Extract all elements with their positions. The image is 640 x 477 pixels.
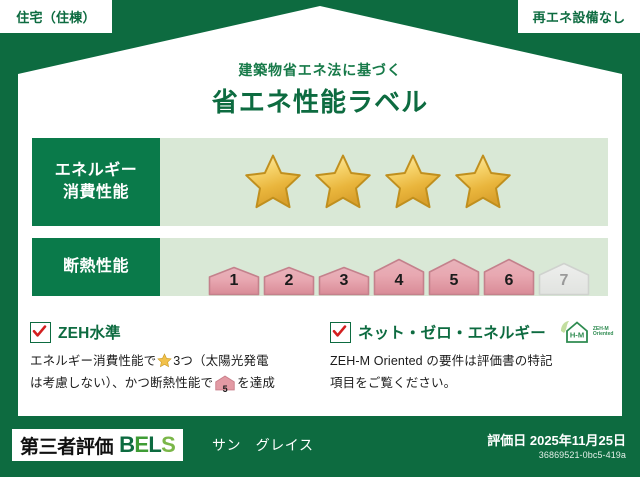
star-icon [312, 152, 374, 212]
insulation-level-4: 4 [373, 258, 425, 296]
house-icon [263, 266, 315, 296]
net-zero-energy-body-line2: 項目をご覧ください。 [330, 376, 456, 390]
insulation-level-2: 2 [263, 266, 315, 296]
check-icon [32, 324, 47, 339]
insulation-level-3: 3 [318, 266, 370, 296]
net-zero-energy-checkbox[interactable] [330, 322, 351, 343]
insulation-level-6: 6 [483, 258, 535, 296]
building-name: サン グレイス [212, 435, 314, 455]
zeh-standard-body-stars: 3つ（太陽光発電 [173, 354, 268, 368]
zeh-standard-heading: ZEH水準 [30, 320, 302, 344]
house-icon [208, 266, 260, 296]
evaluation-date: 評価日 2025年11月25日 [487, 430, 626, 449]
zeh-standard-title: ZEH水準 [58, 321, 121, 343]
house-icon [538, 262, 590, 296]
star-rating [160, 152, 514, 212]
third-party-evaluation-label: 第三者評価 [20, 432, 113, 459]
bels-letter-b: B [119, 432, 134, 457]
star-icon [452, 152, 514, 212]
insulation-house-scale: 1234567 [160, 238, 590, 296]
bels-badge: 第三者評価 BELS [12, 429, 183, 461]
bels-letter-l: L [148, 432, 161, 457]
house-icon [373, 258, 425, 296]
star-icon-inline [157, 353, 172, 368]
energy-performance-label-line1: エネルギー [55, 160, 137, 182]
energy-label-root: 住宅（住棟） 再エネ設備なし 建築物省エネ法に基づく 省エネ性能ラベル エネルギ… [0, 0, 640, 477]
house-icon [428, 258, 480, 296]
evaluation-id: 36869521-0bc5-419a [539, 450, 626, 460]
label-title: 省エネ性能ラベル [0, 82, 640, 119]
insulation-performance-row: 断熱性能 1234567 [32, 238, 608, 296]
insulation-badge-inline: 5 [215, 375, 235, 399]
renewable-equipment-tag-label: 再エネ設備なし [533, 7, 626, 26]
insulation-badge-inline-number: 5 [215, 382, 235, 397]
energy-performance-label-line2: 消費性能 [63, 182, 129, 204]
renewable-equipment-tag: 再エネ設備なし [518, 0, 640, 33]
insulation-performance-value: 1234567 [160, 238, 608, 296]
zeh-standard-note: ZEH水準 エネルギー消費性能で3つ（太陽光発電 は考慮しない）、かつ断熱性能で… [30, 320, 302, 398]
svg-text:H-M: H-M [570, 330, 584, 339]
zeh-standard-body-part2: は考慮しない）、かつ断熱性能で [30, 376, 213, 390]
zeh-standard-body: エネルギー消費性能で3つ（太陽光発電 は考慮しない）、かつ断熱性能で5を達成 [30, 351, 302, 398]
zeh-m-logo-caption-line2: Oriented [593, 332, 614, 337]
bels-letter-s: S [161, 432, 175, 457]
label-subtitle: 建築物省エネ法に基づく [0, 60, 640, 80]
energy-performance-value [160, 138, 608, 226]
insulation-level-5: 5 [428, 258, 480, 296]
building-type-tag-label: 住宅（住棟） [16, 7, 96, 26]
net-zero-energy-note: ネット・ゼロ・エネルギー H-M ZEH-M Oriented ZEH-M Or… [330, 320, 602, 394]
insulation-level-7: 7 [538, 262, 590, 296]
net-zero-energy-body-line1: ZEH-M Oriented の要件は評価書の特記 [330, 354, 553, 368]
star-icon [382, 152, 444, 212]
zeh-standard-body-part3: を達成 [237, 376, 275, 390]
check-icon [332, 324, 347, 339]
bels-letter-e: E [134, 432, 148, 457]
net-zero-energy-body: ZEH-M Oriented の要件は評価書の特記 項目をご覧ください。 [330, 351, 602, 394]
zeh-m-oriented-logo: H-M ZEH-M Oriented [558, 319, 614, 345]
net-zero-energy-heading: ネット・ゼロ・エネルギー H-M ZEH-M Oriented [330, 320, 602, 344]
star-icon [242, 152, 304, 212]
insulation-performance-label-text: 断熱性能 [63, 256, 129, 278]
energy-performance-label: エネルギー 消費性能 [32, 138, 160, 226]
insulation-level-1: 1 [208, 266, 260, 296]
label-footer: 第三者評価 BELS サン グレイス 評価日 2025年11月25日 36869… [0, 421, 640, 477]
building-type-tag: 住宅（住棟） [0, 0, 112, 33]
net-zero-energy-title: ネット・ゼロ・エネルギー [358, 321, 546, 343]
energy-performance-row: エネルギー 消費性能 [32, 138, 608, 226]
zeh-m-house-icon: H-M [558, 319, 592, 345]
bels-wordmark: BELS [119, 432, 175, 458]
zeh-standard-checkbox[interactable] [30, 322, 51, 343]
house-icon [318, 266, 370, 296]
zeh-standard-body-part1: エネルギー消費性能で [30, 354, 156, 368]
house-icon [483, 258, 535, 296]
insulation-performance-label: 断熱性能 [32, 238, 160, 296]
